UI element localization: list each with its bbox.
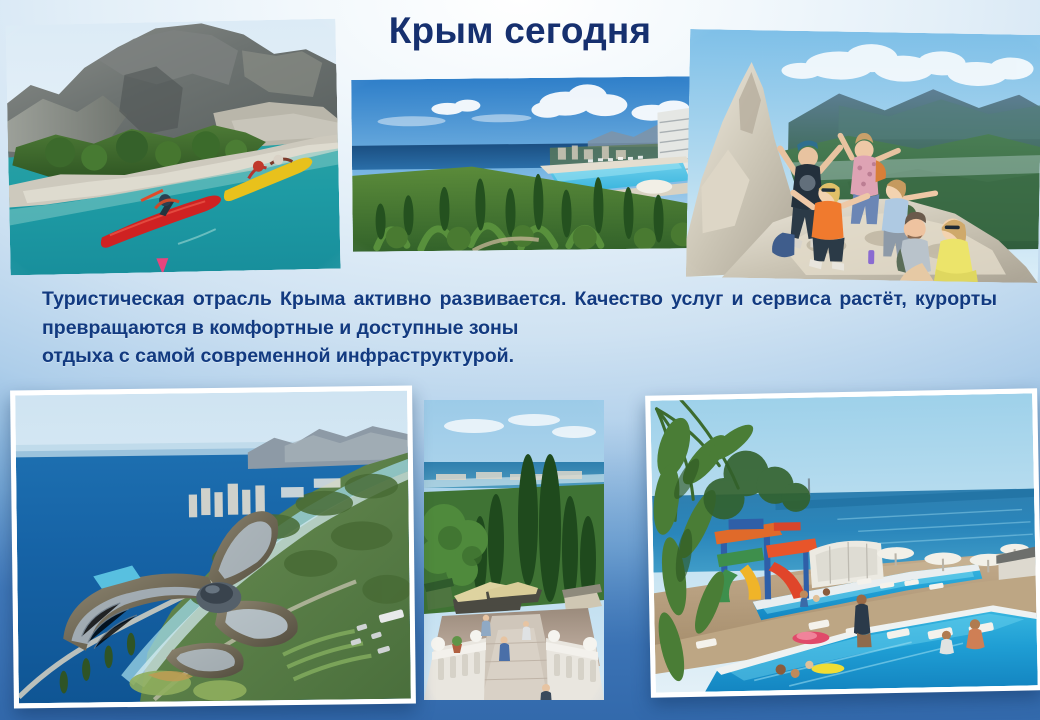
hikers-artwork bbox=[686, 29, 1040, 283]
promenade-artwork bbox=[424, 400, 604, 700]
kayaking-artwork bbox=[5, 19, 340, 276]
photo-promenade bbox=[424, 400, 604, 700]
photo-resort-pool bbox=[351, 76, 703, 252]
photo-kayaking-image bbox=[5, 19, 340, 276]
photo-resort-pool-image bbox=[351, 76, 703, 252]
photo-beach-pools bbox=[645, 388, 1040, 697]
photo-hikers bbox=[686, 29, 1040, 283]
body-text-lastline: отдыха с самой современной инфраструктур… bbox=[42, 342, 997, 371]
resort-pool-artwork bbox=[351, 76, 703, 252]
photo-kayaking bbox=[5, 19, 340, 276]
page-title: Крым сегодня bbox=[0, 10, 1040, 52]
body-text-main: Туристическая отрасль Крыма активно разв… bbox=[42, 288, 997, 339]
photo-hikers-image bbox=[686, 29, 1040, 283]
photo-mriya-reflection bbox=[14, 704, 416, 709]
photo-promenade-image bbox=[424, 400, 604, 700]
mriya-resort-artwork bbox=[15, 391, 411, 704]
photo-beach-pools-image bbox=[650, 393, 1038, 692]
beach-pools-artwork bbox=[650, 393, 1038, 692]
body-text: Туристическая отрасль Крыма активно разв… bbox=[42, 285, 997, 371]
slide: Крым сегодня bbox=[0, 0, 1040, 720]
photo-mriya-resort-image bbox=[15, 391, 411, 704]
photo-mriya-resort bbox=[10, 386, 416, 709]
